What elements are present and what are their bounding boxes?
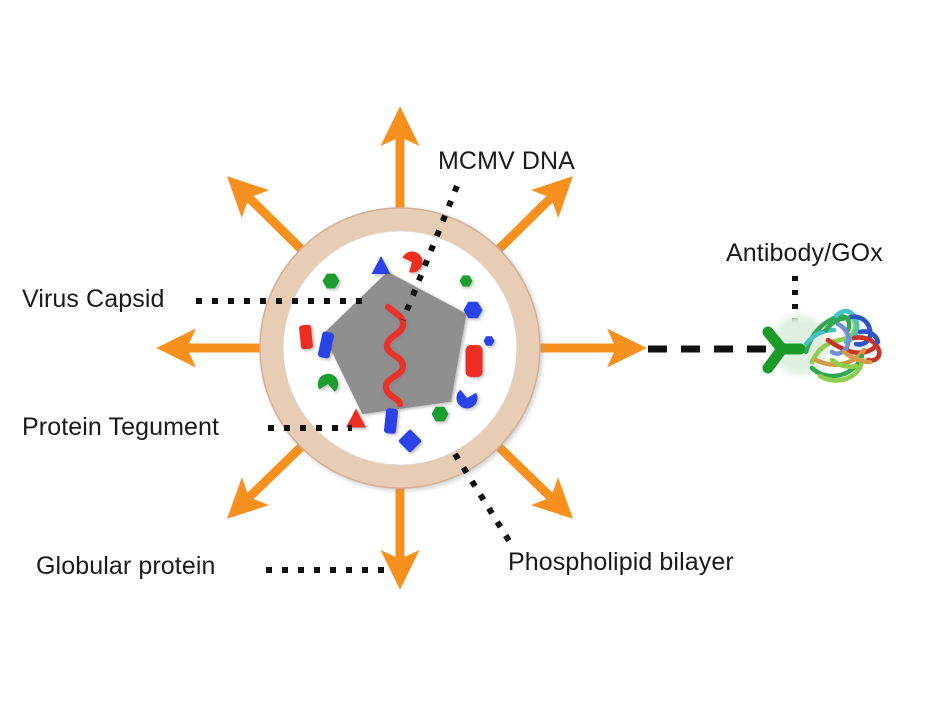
label-mcmv-dna: MCMV DNA (438, 147, 575, 176)
label-antibody-gox: Antibody/GOx (726, 239, 883, 268)
spike-arrow-down-left (234, 447, 301, 512)
tegument-protein-rod (466, 345, 483, 377)
tegument-protein-rod (299, 324, 313, 349)
label-phospholipid-bilayer: Phospholipid bilayer (508, 548, 734, 577)
figure-canvas: Virus Capsid Protein Tegument Globular p… (0, 0, 940, 705)
spike-arrow-up-left (234, 183, 301, 249)
spike-arrow-down-right (499, 447, 566, 512)
label-globular-protein: Globular protein (36, 552, 215, 581)
spike-arrow-up-right (499, 183, 566, 249)
virion-diagram (0, 0, 940, 705)
antibody-gox-conjugate (768, 311, 879, 380)
label-protein-tegument: Protein Tegument (22, 413, 219, 442)
label-virus-capsid: Virus Capsid (22, 285, 164, 314)
